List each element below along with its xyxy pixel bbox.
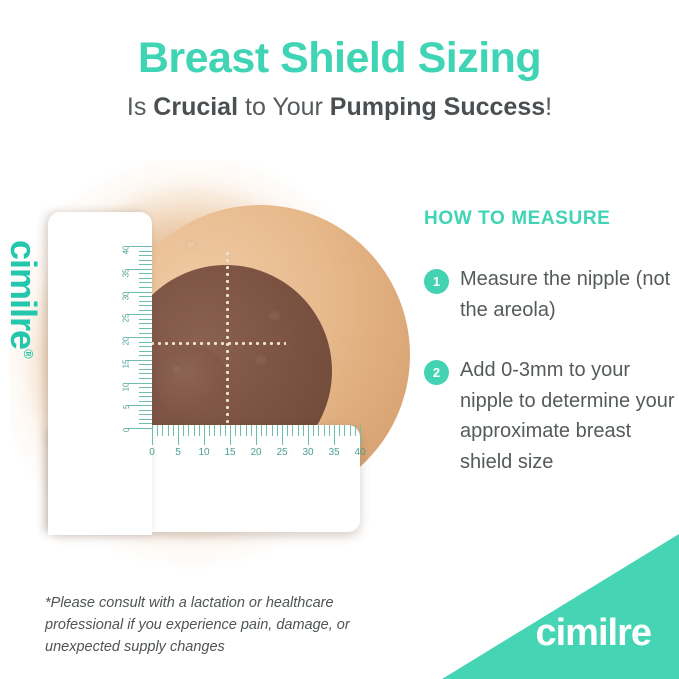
ruler-tick-minor (139, 396, 152, 397)
ruler-tick-major (128, 314, 152, 315)
ruler-label: 20 (246, 447, 266, 458)
ruler-label: 15 (220, 447, 240, 458)
brand-logo: cimilre (535, 612, 651, 655)
ruler-tick-minor (313, 425, 314, 436)
ruler-card-corner (48, 420, 152, 535)
subtitle-part-5: ! (545, 93, 552, 121)
ruler-tick-minor (240, 425, 241, 436)
ruler-label: 5 (168, 447, 188, 458)
ruler-tick-minor (139, 333, 152, 334)
ruler-label: 35 (324, 447, 344, 458)
ruler-tick-minor (139, 287, 152, 288)
ruler-tick-major (152, 425, 153, 445)
subtitle-part-1: Is (127, 93, 153, 121)
ruler-label: 30 (122, 291, 131, 300)
step-item-1: 1 Measure the nipple (not the areola) (424, 264, 675, 325)
ruler-label: 30 (298, 447, 318, 458)
ruler-label: 0 (142, 447, 162, 458)
ruler-tick-minor (324, 425, 325, 436)
ruler-tick-minor (139, 282, 152, 283)
ruler-label: 10 (122, 382, 131, 391)
ruler-tick-major (360, 425, 361, 445)
ruler-label: 25 (272, 447, 292, 458)
ruler-tick-minor (162, 425, 163, 436)
ruler-tick-minor (139, 410, 152, 411)
ruler-tick-minor (287, 425, 288, 436)
ruler-tick-minor (318, 425, 319, 436)
ruler-tick-major (128, 337, 152, 338)
ruler-tick-major (178, 425, 179, 445)
ruler-tick-minor (139, 342, 152, 343)
step-text: Add 0-3mm to your nipple to determine yo… (460, 355, 675, 477)
ruler-tick-minor (350, 425, 351, 436)
ruler-tick-minor (139, 255, 152, 256)
ruler-tick-minor (139, 301, 152, 302)
ruler-tick-minor (272, 425, 273, 436)
ruler-tick-minor (139, 378, 152, 379)
ruler-tick-minor (139, 351, 152, 352)
ruler-tick-minor (168, 425, 169, 436)
vertical-measure-guide (226, 250, 229, 448)
ruler-tick-minor (139, 392, 152, 393)
ruler-tick-minor (139, 323, 152, 324)
skin-bump (268, 310, 281, 321)
ruler-tick-minor (344, 425, 345, 436)
ruler-tick-major (282, 425, 283, 445)
ruler-tick-minor (139, 260, 152, 261)
ruler-tick-minor (139, 264, 152, 265)
ruler-label: 0 (122, 428, 131, 432)
ruler-tick-major (204, 425, 205, 445)
measurement-illustration: cimilre® 0510152025303540 05101520253035… (0, 150, 400, 590)
ruler-tick-minor (139, 346, 152, 347)
ruler-tick-minor (139, 401, 152, 402)
ruler-brand-text: cimilre (3, 240, 44, 349)
ruler-tick-minor (139, 310, 152, 311)
nipple-shape (155, 345, 227, 417)
ruler-tick-minor (139, 419, 152, 420)
ruler-tick-minor (183, 425, 184, 436)
ruler-tick-minor (292, 425, 293, 436)
ruler-tick-minor (199, 425, 200, 436)
ruler-tick-minor (139, 414, 152, 415)
step-number-badge: 2 (424, 360, 449, 385)
ruler-tick-minor (139, 423, 152, 424)
subtitle-part-2: Crucial (153, 93, 238, 121)
page-subtitle: Is Crucial to Your Pumping Success! (0, 92, 679, 122)
ruler-tick-minor (188, 425, 189, 436)
ruler-tick-minor (139, 328, 152, 329)
subtitle-part-4: Pumping Success (330, 93, 545, 121)
ruler-tick-major (256, 425, 257, 445)
ruler-tick-minor (139, 273, 152, 274)
ruler-label: 40 (122, 246, 131, 255)
ruler-label: 20 (122, 337, 131, 346)
ruler-tick-minor (139, 364, 152, 365)
skin-bump (185, 240, 197, 249)
ruler-label: 15 (122, 359, 131, 368)
subtitle-part-3: to Your (238, 93, 330, 121)
ruler-tick-minor (235, 425, 236, 436)
ruler-tick-minor (139, 369, 152, 370)
ruler-tick-minor (139, 278, 152, 279)
ruler-tick-major (128, 383, 152, 384)
ruler-tick-minor (139, 251, 152, 252)
infographic-canvas: Breast Shield Sizing Is Crucial to Your … (0, 0, 679, 679)
ruler-tick-major (128, 360, 152, 361)
ruler-tick-minor (261, 425, 262, 436)
ruler-tick-minor (139, 296, 152, 297)
step-number-badge: 1 (424, 269, 449, 294)
disclaimer-text: *Please consult with a lactation or heal… (45, 592, 390, 658)
step-text: Measure the nipple (not the areola) (460, 264, 675, 325)
ruler-tick-minor (303, 425, 304, 436)
vertical-ruler-scale: 0510152025303540 (100, 246, 152, 428)
ruler-tick-major (128, 269, 152, 270)
ruler-tick-minor (298, 425, 299, 436)
ruler-tick-major (334, 425, 335, 445)
ruler-tick-minor (277, 425, 278, 436)
ruler-tick-minor (266, 425, 267, 436)
ruler-tick-minor (355, 425, 356, 436)
ruler-tick-major (128, 292, 152, 293)
ruler-label: 5 (122, 405, 131, 409)
ruler-label: 25 (122, 314, 131, 323)
skin-bump (255, 355, 267, 365)
ruler-label: 10 (194, 447, 214, 458)
ruler-brand-label: cimilre® (2, 240, 44, 400)
ruler-tick-minor (139, 373, 152, 374)
ruler-label: 35 (122, 268, 131, 277)
ruler-tick-minor (194, 425, 195, 436)
ruler-label: 40 (350, 447, 370, 458)
ruler-tick-minor (157, 425, 158, 436)
ruler-tick-minor (139, 387, 152, 388)
ruler-tick-minor (246, 425, 247, 436)
ruler-tick-minor (214, 425, 215, 436)
ruler-tick-minor (209, 425, 210, 436)
ruler-tick-minor (220, 425, 221, 436)
ruler-tick-minor (225, 425, 226, 436)
step-item-2: 2 Add 0-3mm to your nipple to determine … (424, 355, 675, 477)
ruler-tick-major (128, 405, 152, 406)
ruler-tick-minor (139, 355, 152, 356)
howto-heading: HOW TO MEASURE (424, 208, 610, 230)
ruler-tick-minor (329, 425, 330, 436)
ruler-tick-minor (139, 319, 152, 320)
page-title: Breast Shield Sizing (0, 36, 679, 81)
ruler-tick-major (230, 425, 231, 445)
skin-bump (172, 365, 182, 373)
ruler-tick-major (308, 425, 309, 445)
ruler-tick-minor (173, 425, 174, 436)
ruler-tick-minor (139, 305, 152, 306)
ruler-tick-major (128, 246, 152, 247)
ruler-tick-minor (251, 425, 252, 436)
registered-icon: ® (21, 349, 36, 358)
ruler-tick-major (128, 428, 152, 429)
horizontal-ruler-scale: 0510152025303540 (152, 425, 360, 471)
ruler-tick-minor (339, 425, 340, 436)
